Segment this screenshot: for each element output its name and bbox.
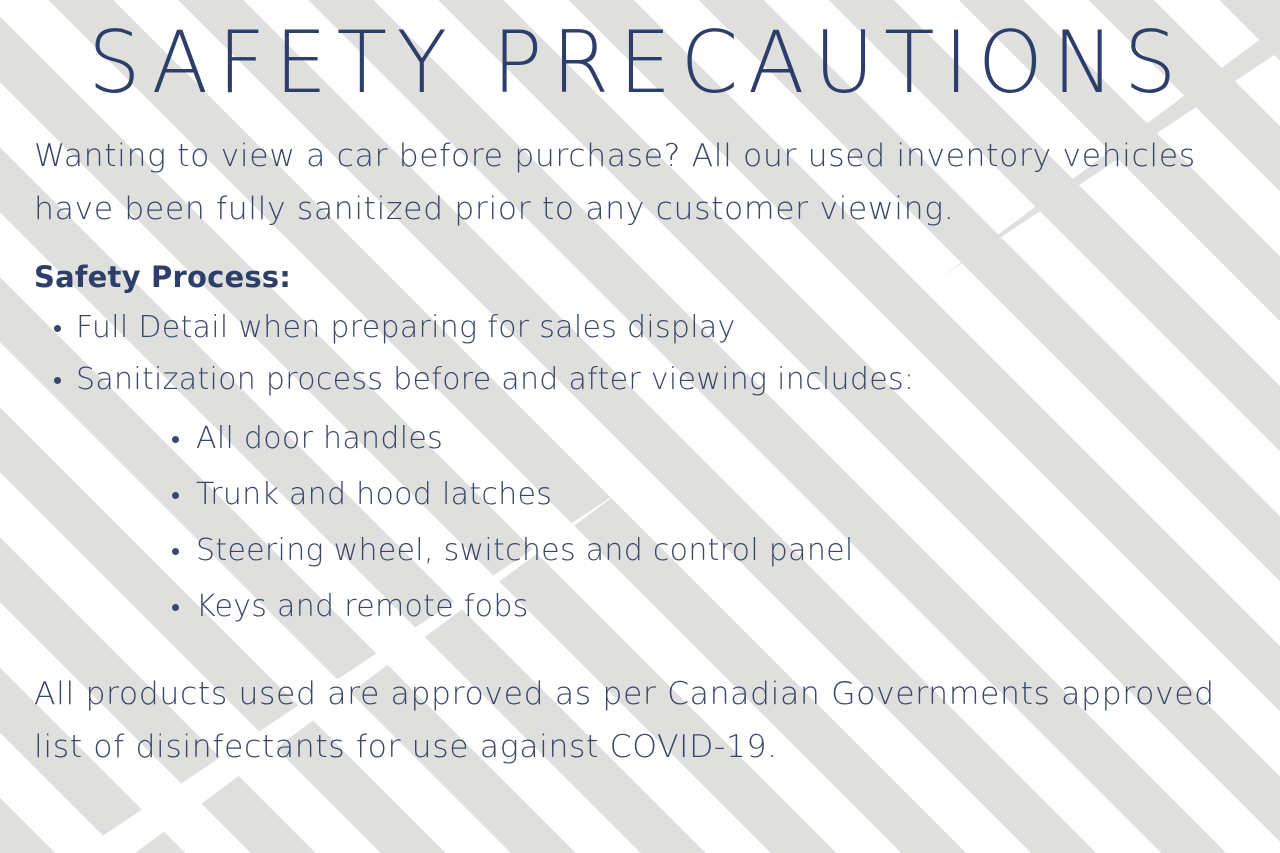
list-item-label: All door handles [196, 421, 443, 456]
safety-process-list: Full Detail when preparing for sales dis… [34, 302, 1240, 634]
intro-paragraph: Wanting to view a car before purchase? A… [34, 130, 1240, 236]
list-item: All door handles [168, 411, 1240, 467]
list-item-label: Trunk and hood latches [196, 477, 552, 512]
list-item-label: Full Detail when preparing for sales dis… [76, 310, 736, 345]
safety-precautions-poster: SAFETY PRECAUTIONS Wanting to view a car… [0, 0, 1280, 853]
poster-content: SAFETY PRECAUTIONS Wanting to view a car… [0, 0, 1280, 774]
safety-process-heading: Safety Process: [34, 260, 1240, 294]
list-item: Full Detail when preparing for sales dis… [50, 302, 1240, 354]
list-item-label: Steering wheel, switches and control pan… [196, 533, 854, 568]
list-item-label: Keys and remote fobs [196, 589, 529, 624]
sanitization-sublist: All door handles Trunk and hood latches … [76, 411, 1240, 634]
outro-paragraph: All products used are approved as per Ca… [34, 668, 1240, 774]
list-item: Keys and remote fobs [168, 579, 1240, 635]
list-item: Trunk and hood latches [168, 467, 1240, 523]
list-item: Steering wheel, switches and control pan… [168, 523, 1240, 579]
list-item: Sanitization process before and after vi… [50, 354, 1240, 635]
page-title: SAFETY PRECAUTIONS [58, 0, 1216, 108]
list-item-label: Sanitization process before and after vi… [76, 362, 914, 397]
